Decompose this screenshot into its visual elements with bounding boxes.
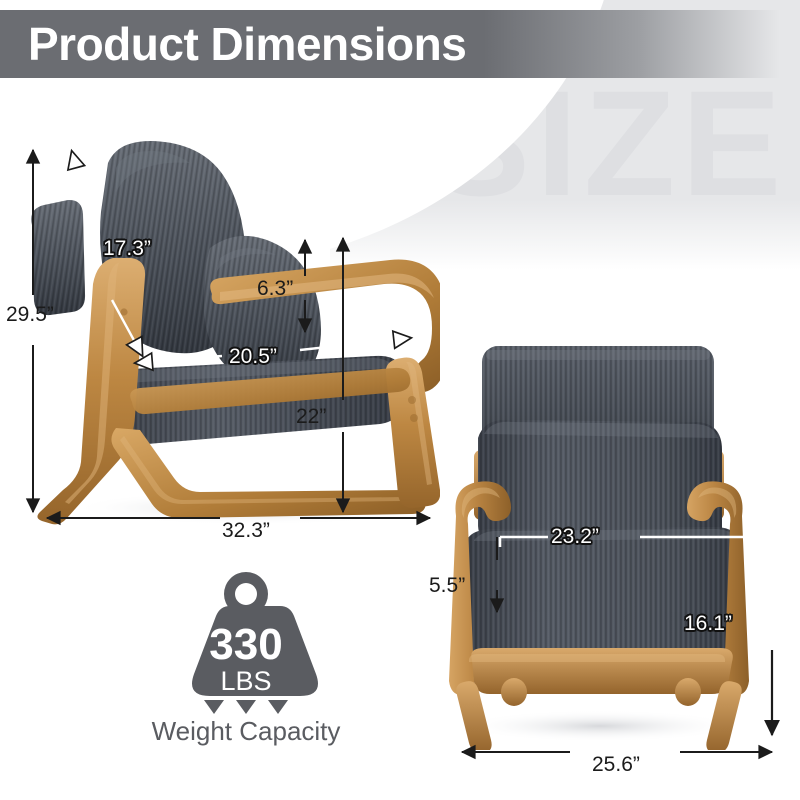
header-banner: Product Dimensions (0, 10, 780, 78)
dimension-label-arm-top-height: 22” (296, 405, 326, 429)
weight-icon: 330 LBS (96, 566, 396, 716)
chair-front-view-illustration (430, 330, 780, 750)
weight-unit-text: LBS (220, 666, 271, 696)
weight-capacity-badge: 330 LBS Weight Capacity (96, 566, 396, 756)
dimension-label-overall-height: 29.5” (6, 303, 54, 327)
dimension-label-arm-height: 6.3” (257, 277, 293, 301)
page-title: Product Dimensions (0, 17, 466, 71)
dimension-label-overall-depth: 32.3” (222, 519, 270, 543)
dimension-label-overall-width: 25.6” (592, 753, 640, 777)
down-arrow-icon-3 (268, 700, 288, 714)
infographic-canvas: SIZE Product Dimensions (0, 0, 800, 800)
weight-capacity-caption: Weight Capacity (96, 716, 396, 747)
weight-value-text: 330 (209, 620, 282, 669)
dimension-label-seat-depth: 20.5” (229, 345, 277, 369)
down-arrow-icon-1 (204, 700, 224, 714)
dimension-label-backrest-height: 17.3” (103, 237, 151, 261)
down-arrow-icon-2 (236, 700, 256, 714)
dimension-label-cushion-height: 5.5” (429, 574, 465, 598)
dimension-label-seat-width: 23.2” (551, 525, 599, 549)
dimension-label-seat-height: 16.1” (684, 612, 732, 636)
chair-side-view-illustration (20, 130, 440, 530)
